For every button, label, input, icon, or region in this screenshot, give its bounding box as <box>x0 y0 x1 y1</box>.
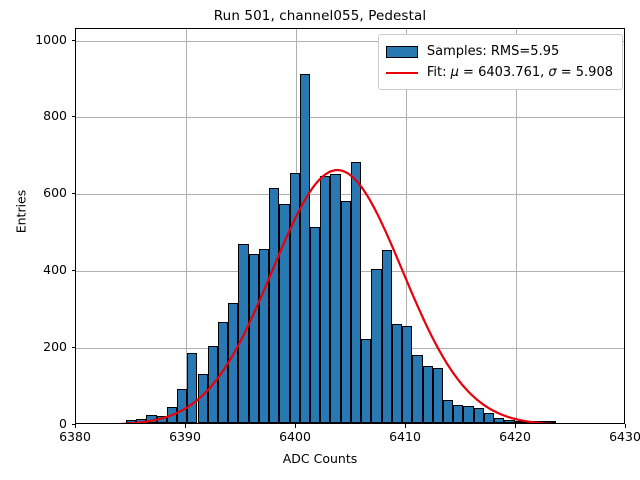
histogram-bar <box>423 366 433 423</box>
chart-title: Run 501, channel055, Pedestal <box>0 8 640 24</box>
histogram-bar <box>238 244 248 423</box>
x-tick-mark <box>515 424 516 428</box>
legend-line-icon <box>386 72 418 74</box>
histogram-bar <box>228 303 238 423</box>
legend-label-samples: Samples: RMS=5.95 <box>427 44 559 59</box>
histogram-bar <box>535 421 545 423</box>
x-tick-mark <box>625 424 626 428</box>
histogram-bar <box>504 420 514 423</box>
histogram-bar <box>382 250 392 423</box>
y-tick-mark <box>72 424 76 425</box>
histogram-bar <box>330 174 340 423</box>
x-tick-label: 6430 <box>595 429 640 444</box>
x-tick-label: 6390 <box>155 429 215 444</box>
x-tick-label: 6420 <box>485 429 545 444</box>
y-tick-label: 1000 <box>7 32 67 47</box>
gridline-horizontal <box>76 117 624 118</box>
histogram-bar <box>146 415 156 423</box>
y-axis-label: Entries <box>14 122 29 302</box>
histogram-bar <box>167 407 177 423</box>
histogram-bar <box>177 389 187 423</box>
histogram-bar <box>484 413 494 423</box>
histogram-bar <box>320 176 330 423</box>
y-tick-label: 0 <box>7 416 67 431</box>
histogram-bar <box>371 269 381 423</box>
y-tick-mark <box>72 270 76 271</box>
x-tick-mark <box>295 424 296 428</box>
x-tick-label: 6410 <box>375 429 435 444</box>
histogram-bar <box>474 408 484 423</box>
histogram-bar <box>341 201 351 423</box>
histogram-bar <box>300 74 310 423</box>
histogram-bar <box>198 374 208 423</box>
x-tick-label: 6380 <box>45 429 105 444</box>
histogram-bar <box>402 326 412 423</box>
legend-item-samples: Samples: RMS=5.95 <box>386 41 613 62</box>
legend-label-fit: Fit: μ = 6403.761, σ = 5.908 <box>427 65 613 80</box>
histogram-bar <box>351 162 361 423</box>
histogram-bar <box>279 204 289 423</box>
histogram-bar <box>136 419 146 423</box>
histogram-bar <box>290 173 300 423</box>
legend-patch-icon <box>386 46 418 58</box>
histogram-bar <box>412 355 422 423</box>
x-tick-mark <box>75 424 76 428</box>
histogram-bar <box>208 346 218 423</box>
histogram-bar <box>545 421 555 423</box>
x-axis-label: ADC Counts <box>0 451 640 466</box>
histogram-bar <box>126 420 136 423</box>
chart-figure: Run 501, channel055, Pedestal 6380639064… <box>0 0 640 480</box>
histogram-bar <box>463 406 473 423</box>
histogram-bar <box>525 421 535 423</box>
y-tick-mark <box>72 347 76 348</box>
legend-item-fit: Fit: μ = 6403.761, σ = 5.908 <box>386 62 613 83</box>
histogram-bar <box>218 322 228 423</box>
histogram-bar <box>392 324 402 423</box>
histogram-bar <box>259 249 269 423</box>
y-tick-mark <box>72 116 76 117</box>
histogram-bar <box>494 418 504 423</box>
histogram-bar <box>187 353 197 423</box>
histogram-bar <box>443 400 453 423</box>
histogram-bar <box>361 339 371 423</box>
x-tick-mark <box>185 424 186 428</box>
x-tick-mark <box>405 424 406 428</box>
y-tick-label: 200 <box>7 339 67 354</box>
histogram-bar <box>249 254 259 423</box>
x-tick-label: 6400 <box>265 429 325 444</box>
histogram-bar <box>433 368 443 423</box>
histogram-bar <box>453 405 463 423</box>
histogram-bar <box>269 188 279 423</box>
histogram-bar <box>515 421 525 423</box>
y-tick-mark <box>72 40 76 41</box>
histogram-bar <box>157 416 167 423</box>
y-tick-mark <box>72 193 76 194</box>
histogram-bar <box>310 227 320 423</box>
chart-legend: Samples: RMS=5.95 Fit: μ = 6403.761, σ =… <box>378 34 623 90</box>
